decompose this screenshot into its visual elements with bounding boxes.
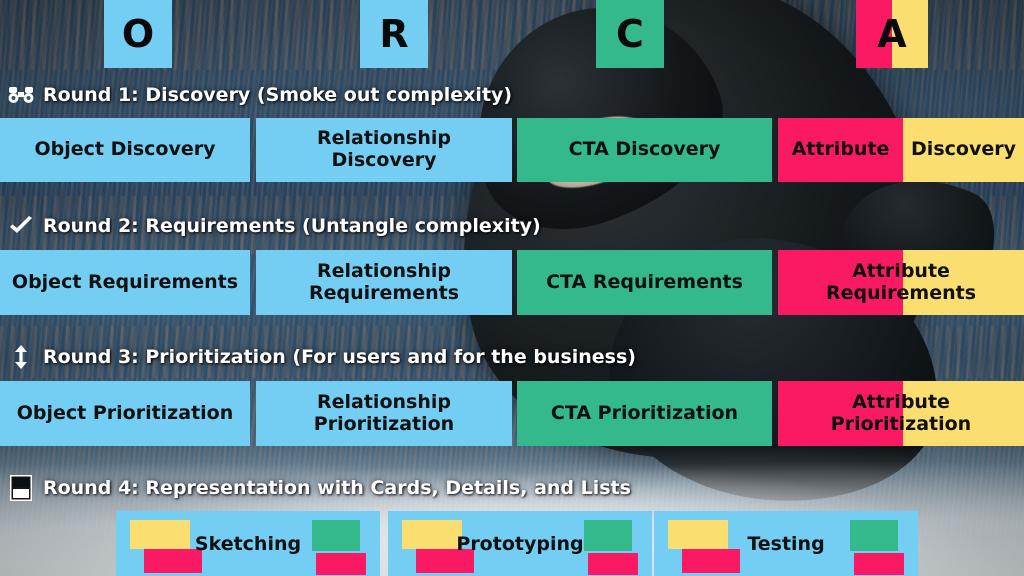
testing-pink-swatch-right xyxy=(854,553,904,575)
stage-attribute-discovery-label-part1: Attribute xyxy=(778,139,903,161)
round4-card-sketching[interactable]: Sketching xyxy=(116,511,380,576)
acronym-letter-r: R xyxy=(360,0,428,68)
stage-attribute-requirements[interactable]: Attribute Requirements xyxy=(778,250,1024,315)
stage-relationship-discovery[interactable]: Relationship Discovery xyxy=(256,118,512,182)
stage-cta-discovery-label: CTA Discovery xyxy=(563,139,727,161)
round-3-heading: Round 3: Prioritization (For users and f… xyxy=(8,345,636,369)
round4-card-testing[interactable]: Testing xyxy=(654,511,918,576)
testing-green-swatch xyxy=(850,520,898,551)
stage-relationship-prioritization[interactable]: Relationship Prioritization xyxy=(256,381,512,446)
acronym-letter-c-glyph: C xyxy=(616,15,644,53)
binoculars-icon xyxy=(8,83,34,107)
round-1-heading-text: Round 1: Discovery (Smoke out complexity… xyxy=(43,84,512,106)
round-2-heading-text: Round 2: Requirements (Untangle complexi… xyxy=(43,215,541,237)
stage-cta-prioritization[interactable]: CTA Prioritization xyxy=(517,381,772,446)
stage-attribute-prioritization[interactable]: Attribute Prioritization xyxy=(778,381,1024,446)
stage-object-requirements-label: Object Requirements xyxy=(6,272,244,294)
prototyping-pink-swatch-right xyxy=(588,553,638,575)
stage-attribute-prioritization-label: Attribute Prioritization xyxy=(814,392,989,436)
sketching-pink-swatch xyxy=(144,549,202,573)
round4-card-sketching-label: Sketching xyxy=(195,533,301,555)
round-4-heading: Round 4: Representation with Cards, Deta… xyxy=(8,476,631,500)
round-3-heading-text: Round 3: Prioritization (For users and f… xyxy=(43,346,636,368)
acronym-letter-r-glyph: R xyxy=(379,15,408,53)
stage-attribute-requirements-label: Attribute Requirements xyxy=(811,261,991,305)
card-layout-icon xyxy=(8,476,34,500)
checkmark-icon xyxy=(8,214,34,238)
stage-object-prioritization-label: Object Prioritization xyxy=(11,403,240,425)
sketching-pink-swatch-right xyxy=(316,553,366,575)
round4-card-prototyping-label: Prototyping xyxy=(456,533,583,555)
stage-cta-prioritization-label: CTA Prioritization xyxy=(545,403,744,425)
stage-attribute-discovery-label-part2: Discovery xyxy=(903,139,1024,161)
stage-cta-requirements-label: CTA Requirements xyxy=(540,272,749,294)
stage-relationship-requirements-label: Relationship Requirements xyxy=(289,261,479,305)
up-down-arrow-icon xyxy=(8,345,34,369)
testing-pink-swatch xyxy=(682,549,740,573)
sketching-yellow-swatch xyxy=(130,520,190,549)
stage-cta-discovery[interactable]: CTA Discovery xyxy=(517,118,772,182)
round-1-heading: Round 1: Discovery (Smoke out complexity… xyxy=(8,83,512,107)
round4-card-prototyping[interactable]: Prototyping xyxy=(388,511,652,576)
acronym-letter-o-glyph: O xyxy=(122,15,154,53)
acronym-letter-a-glyph: A xyxy=(877,15,906,53)
stage-relationship-prioritization-label: Relationship Prioritization xyxy=(294,392,474,436)
stage-object-discovery[interactable]: Object Discovery xyxy=(0,118,250,182)
acronym-letter-c: C xyxy=(596,0,664,68)
sketching-green-swatch xyxy=(312,520,360,551)
prototyping-green-swatch xyxy=(584,520,632,551)
acronym-letter-o: O xyxy=(104,0,172,68)
round4-card-testing-label: Testing xyxy=(747,533,824,555)
testing-yellow-swatch xyxy=(668,520,728,549)
round-2-heading: Round 2: Requirements (Untangle complexi… xyxy=(8,214,541,238)
stage-cta-requirements[interactable]: CTA Requirements xyxy=(517,250,772,315)
stage-relationship-requirements[interactable]: Relationship Requirements xyxy=(256,250,512,315)
stage-object-requirements[interactable]: Object Requirements xyxy=(0,250,250,315)
stage-attribute-discovery[interactable]: Attribute Discovery xyxy=(778,118,1024,182)
stage-object-prioritization[interactable]: Object Prioritization xyxy=(0,381,250,446)
stage-object-discovery-label: Object Discovery xyxy=(28,139,221,161)
prototyping-yellow-swatch xyxy=(402,520,462,549)
acronym-letter-a: A xyxy=(856,0,928,68)
stage-relationship-discovery-label: Relationship Discovery xyxy=(256,128,512,172)
round-4-heading-text: Round 4: Representation with Cards, Deta… xyxy=(43,477,631,499)
